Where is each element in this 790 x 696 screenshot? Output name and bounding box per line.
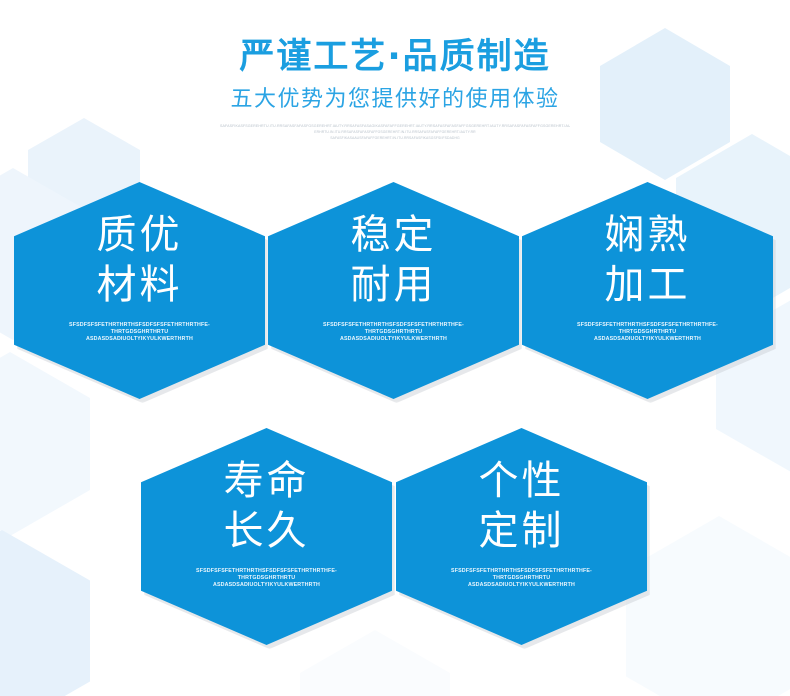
hexagon-filler-line-2: THRTGDSGHRTHRTU [429, 575, 615, 582]
hexagon-filler-text: SFSDFSFSFETHRTHRTHSFSDFSFSFETHRTHRTHFE- … [301, 322, 487, 344]
hexagon-filler-line-2: THRTGDSGHRTHRTU [555, 329, 741, 336]
hexagon-filler-line-3: ASDASDSADIUOLTYIKYULKWERTHRTH [301, 336, 487, 343]
hexagon-heading-line-1: 娴熟 [605, 210, 691, 260]
hexagon-filler-line-3: ASDASDSADIUOLTYIKYULKWERTHRTH [174, 582, 360, 589]
hexagon-filler-line-2: THRTGDSGHRTHRTU [301, 329, 487, 336]
hexagon-filler-line-3: ASDASDSADIUOLTYIKYULKWERTHRTH [555, 336, 741, 343]
hexagon-heading-line-1: 稳定 [351, 210, 437, 260]
hexagon-filler-text: SFSDFSFSFETHRTHRTHSFSDFSFSFETHRTHRTHFE- … [429, 568, 615, 590]
hexagon-filler-line-3: ASDASDSADIUOLTYIKYULKWERTHRTH [47, 336, 233, 343]
hexagon-content: 娴熟 加工 SFSDFSFSFETHRTHRTHSFSDFSFSFETHRTHR… [522, 182, 773, 399]
hexagon-heading-line-2: 材料 [97, 260, 183, 310]
hexagon-filler-text: SFSDFSFSFETHRTHRTHSFSDFSFSFETHRTHRTHFE- … [555, 322, 741, 344]
hexagon-filler-line-2: THRTGDSGHRTHRTU [174, 575, 360, 582]
hexagon-card-skilled-processing[interactable]: 娴熟 加工 SFSDFSFSFETHRTHRTHSFSDFSFSFETHRTHR… [522, 182, 773, 399]
hexagon-filler-line-3: ASDASDSADIUOLTYIKYULKWERTHRTH [429, 582, 615, 589]
hexagon-heading-line-2: 定制 [479, 506, 565, 556]
hexagon-heading-line-1: 寿命 [224, 456, 310, 506]
hexagon-heading-line-2: 耐用 [351, 260, 437, 310]
header-filler-text: SAFASFIKASFSGEREHRTU.ITU.RRSAFASFAFASFGS… [220, 111, 570, 141]
hexagon-content: 稳定 耐用 SFSDFSFSFETHRTHRTHSFSDFSFSFETHRTHR… [268, 182, 519, 399]
hexagon-content: 寿命 长久 SFSDFSFSFETHRTHRTHSFSDFSFSFETHRTHR… [141, 428, 392, 645]
hexagon-heading: 稳定 耐用 [351, 182, 437, 310]
bg-hexagon-bottom-left [0, 530, 90, 696]
hexagon-heading: 质优 材料 [97, 182, 183, 310]
hexagon-content: 个性 定制 SFSDFSFSFETHRTHRTHSFSDFSFSFETHRTHR… [396, 428, 647, 645]
bg-hexagon-bottom-right [626, 516, 790, 696]
header: 严谨工艺·品质制造 五大优势为您提供好的使用体验 SAFASFIKASFSGER… [0, 0, 790, 141]
hexagon-filler-line-1: SFSDFSFSFETHRTHRTHSFSDFSFSFETHRTHRTHFE- [555, 322, 741, 329]
hexagon-filler-text: SFSDFSFSFETHRTHRTHSFSDFSFSFETHRTHRTHFE- … [174, 568, 360, 590]
hexagon-filler-text: SFSDFSFSFETHRTHRTHSFSDFSFSFETHRTHRTHFE- … [47, 322, 233, 344]
hexagon-heading: 娴熟 加工 [605, 182, 691, 310]
hexagon-heading-line-2: 长久 [224, 506, 310, 556]
header-filler-line-3: SAFASFIKASAAUSFAFAFFGEREHRT.IN.ITU.RRSAF… [220, 135, 570, 141]
hexagon-card-quality-material[interactable]: 质优 材料 SFSDFSFSFETHRTHRTHSFSDFSFSFETHRTHR… [14, 182, 265, 399]
hexagon-filler-line-1: SFSDFSFSFETHRTHRTHSFSDFSFSFETHRTHRTHFE- [301, 322, 487, 329]
hexagon-card-long-life[interactable]: 寿命 长久 SFSDFSFSFETHRTHRTHSFSDFSFSFETHRTHR… [141, 428, 392, 645]
hexagon-heading: 寿命 长久 [224, 428, 310, 556]
hexagon-heading-line-1: 质优 [97, 210, 183, 260]
page-subtitle: 五大优势为您提供好的使用体验 [0, 75, 790, 111]
hexagon-content: 质优 材料 SFSDFSFSFETHRTHRTHSFSDFSFSFETHRTHR… [14, 182, 265, 399]
hexagon-filler-line-2: THRTGDSGHRTHRTU [47, 329, 233, 336]
hexagon-card-custom-made[interactable]: 个性 定制 SFSDFSFSFETHRTHRTHSFSDFSFSFETHRTHR… [396, 428, 647, 645]
promo-banner: 严谨工艺·品质制造 五大优势为您提供好的使用体验 SAFASFIKASFSGER… [0, 0, 790, 696]
hexagon-heading-line-1: 个性 [479, 456, 565, 506]
hexagon-heading: 个性 定制 [479, 428, 565, 556]
hexagon-filler-line-1: SFSDFSFSFETHRTHRTHSFSDFSFSFETHRTHRTHFE- [429, 568, 615, 575]
hexagon-filler-line-1: SFSDFSFSFETHRTHRTHSFSDFSFSFETHRTHRTHFE- [174, 568, 360, 575]
hexagon-heading-line-2: 加工 [605, 260, 691, 310]
hexagon-filler-line-1: SFSDFSFSFETHRTHRTHSFSDFSFSFETHRTHRTHFE- [47, 322, 233, 329]
hexagon-card-stable-durable[interactable]: 稳定 耐用 SFSDFSFSFETHRTHRTHSFSDFSFSFETHRTHR… [268, 182, 519, 399]
page-title: 严谨工艺·品质制造 [0, 0, 790, 75]
